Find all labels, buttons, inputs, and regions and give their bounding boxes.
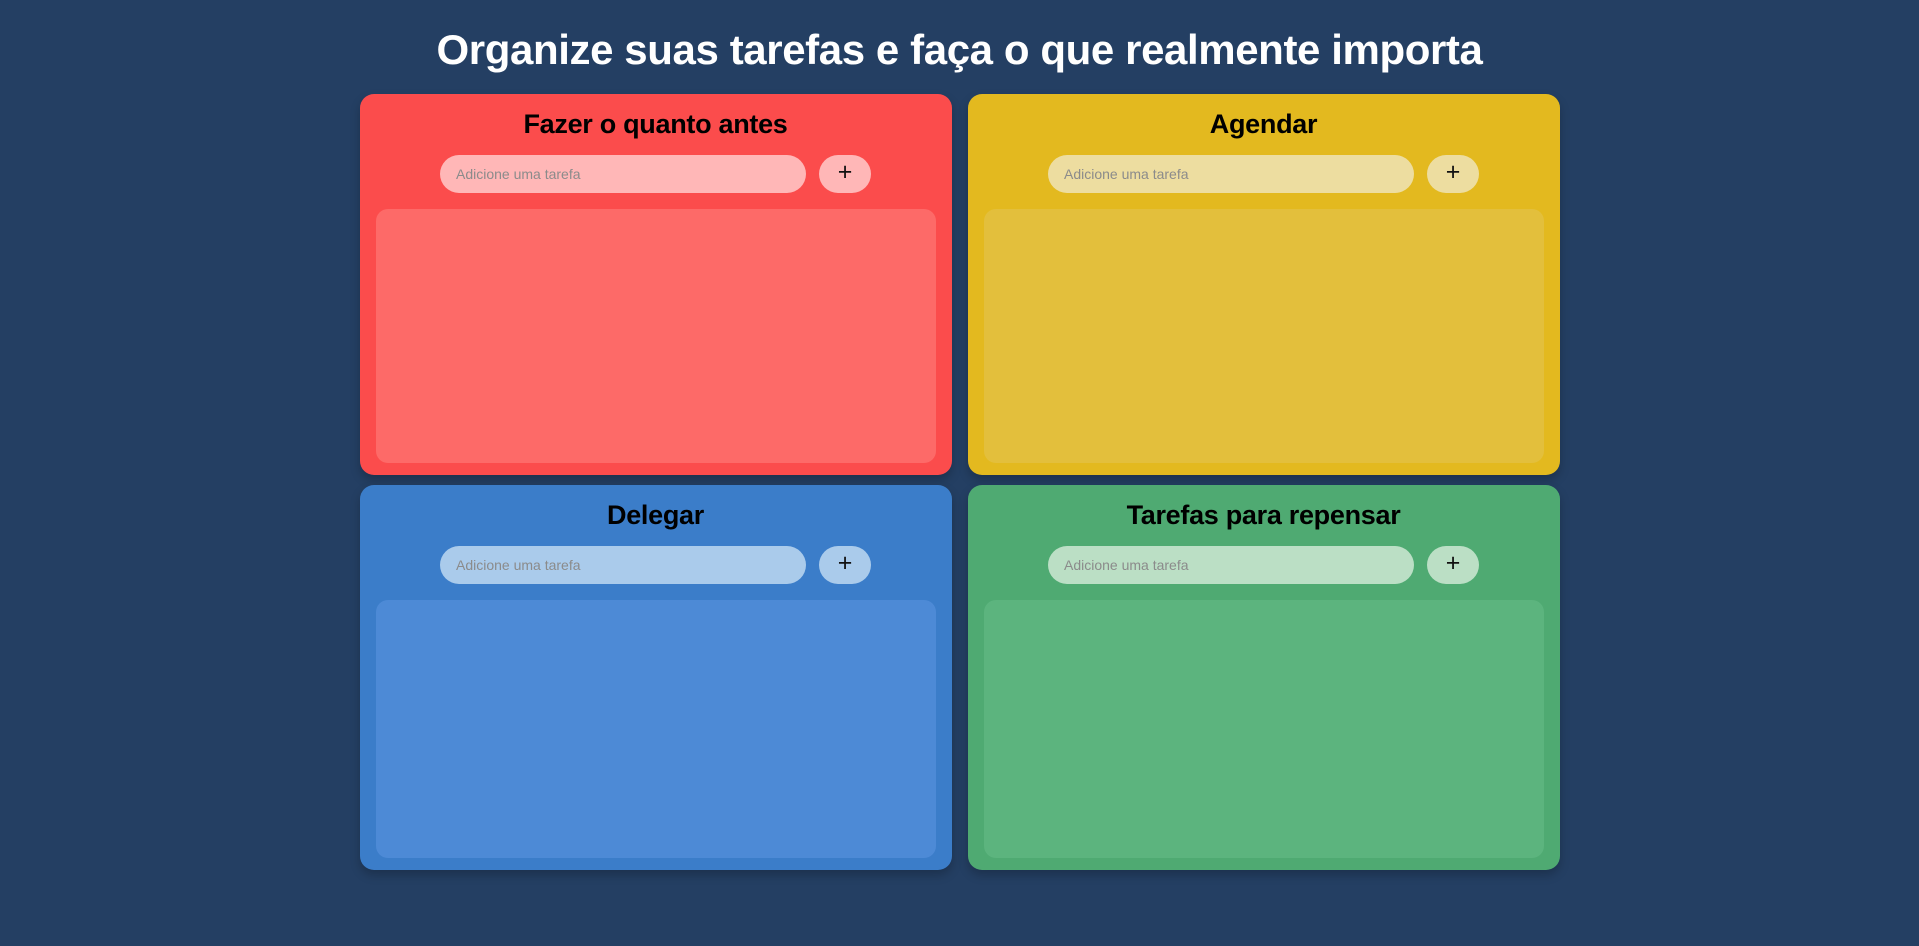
quadrant-title-tarefas-para-repensar: Tarefas para repensar [984,499,1544,531]
task-input-fazer-o-quanto-antes[interactable] [440,155,806,193]
page-title: Organize suas tarefas e faça o que realm… [437,26,1483,74]
plus-icon: + [1446,160,1461,185]
quadrant-agendar: Agendar + [968,94,1560,475]
add-task-row-agendar: + [984,155,1544,193]
add-task-button-agendar[interactable]: + [1427,155,1479,193]
task-list-delegar[interactable] [376,600,936,859]
quadrant-delegar: Delegar + [360,485,952,870]
add-task-row-tarefas-para-repensar: + [984,546,1544,584]
add-task-button-tarefas-para-repensar[interactable]: + [1427,546,1479,584]
add-task-row-fazer-o-quanto-antes: + [376,155,936,193]
add-task-button-delegar[interactable]: + [819,546,871,584]
task-list-tarefas-para-repensar[interactable] [984,600,1544,859]
task-input-agendar[interactable] [1048,155,1414,193]
task-list-fazer-o-quanto-antes[interactable] [376,209,936,464]
task-input-tarefas-para-repensar[interactable] [1048,546,1414,584]
plus-icon: + [838,160,853,185]
quadrant-title-fazer-o-quanto-antes: Fazer o quanto antes [376,108,936,140]
task-list-agendar[interactable] [984,209,1544,464]
eisenhower-matrix: Fazer o quanto antes + Agendar + Delegar [360,94,1560,870]
quadrant-tarefas-para-repensar: Tarefas para repensar + [968,485,1560,870]
quadrant-fazer-o-quanto-antes: Fazer o quanto antes + [360,94,952,475]
quadrant-title-delegar: Delegar [376,499,936,531]
add-task-button-fazer-o-quanto-antes[interactable]: + [819,155,871,193]
add-task-row-delegar: + [376,546,936,584]
app-root: Organize suas tarefas e faça o que realm… [0,0,1919,946]
task-input-delegar[interactable] [440,546,806,584]
plus-icon: + [838,551,853,576]
plus-icon: + [1446,551,1461,576]
quadrant-title-agendar: Agendar [984,108,1544,140]
